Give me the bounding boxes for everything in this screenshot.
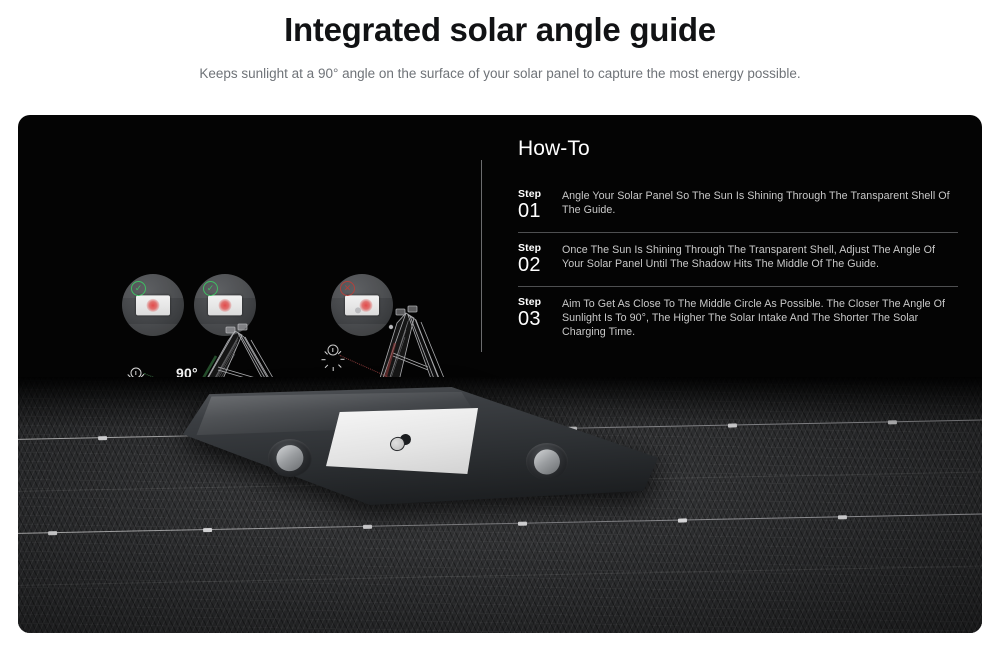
step-number-block: Step 03 (518, 295, 562, 331)
howto-pane: How-To Step 01 Angle Your Solar Panel So… (518, 137, 958, 387)
device-transparent-shell (326, 408, 478, 474)
angle-target-lens-icon (390, 434, 412, 452)
step-digits: 02 (518, 254, 562, 277)
step-digits: 03 (518, 308, 562, 331)
step-digits: 01 (518, 200, 562, 223)
step-number-block: Step 02 (518, 241, 562, 277)
solar-angle-guide-card: ✓ ✓ ✕ (18, 115, 982, 633)
device-port-right (526, 443, 568, 480)
step-description: Aim To Get As Close To The Middle Circle… (562, 295, 958, 340)
page-subtitle: Keeps sunlight at a 90° angle on the sur… (0, 64, 1000, 84)
howto-title: How-To (518, 137, 958, 161)
step-description: Angle Your Solar Panel So The Sun Is Shi… (562, 187, 958, 217)
device-port-left (268, 439, 312, 477)
page-header: Integrated solar angle guide Keeps sunli… (0, 0, 1000, 84)
howto-step-01: Step 01 Angle Your Solar Panel So The Su… (518, 179, 958, 232)
check-icon: ✓ (131, 281, 146, 296)
page-title: Integrated solar angle guide (0, 6, 1000, 54)
step-description: Once The Sun Is Shining Through The Tran… (562, 241, 958, 271)
step-word: Step (518, 296, 562, 308)
step-word: Step (518, 242, 562, 254)
port-cap (531, 446, 563, 477)
howto-step-03: Step 03 Aim To Get As Close To The Middl… (518, 286, 958, 349)
sun-ray (135, 371, 136, 375)
angle-illustration-pane: ✓ ✓ ✕ (18, 115, 500, 383)
step-word: Step (518, 188, 562, 200)
cross-icon: ✕ (340, 281, 355, 296)
step-number-block: Step 01 (518, 187, 562, 223)
port-cap (273, 442, 306, 474)
check-icon: ✓ (203, 281, 218, 296)
howto-step-02: Step 02 Once The Sun Is Shining Through … (518, 232, 958, 286)
pane-divider (481, 160, 482, 352)
solar-angle-guide-device (178, 387, 658, 505)
